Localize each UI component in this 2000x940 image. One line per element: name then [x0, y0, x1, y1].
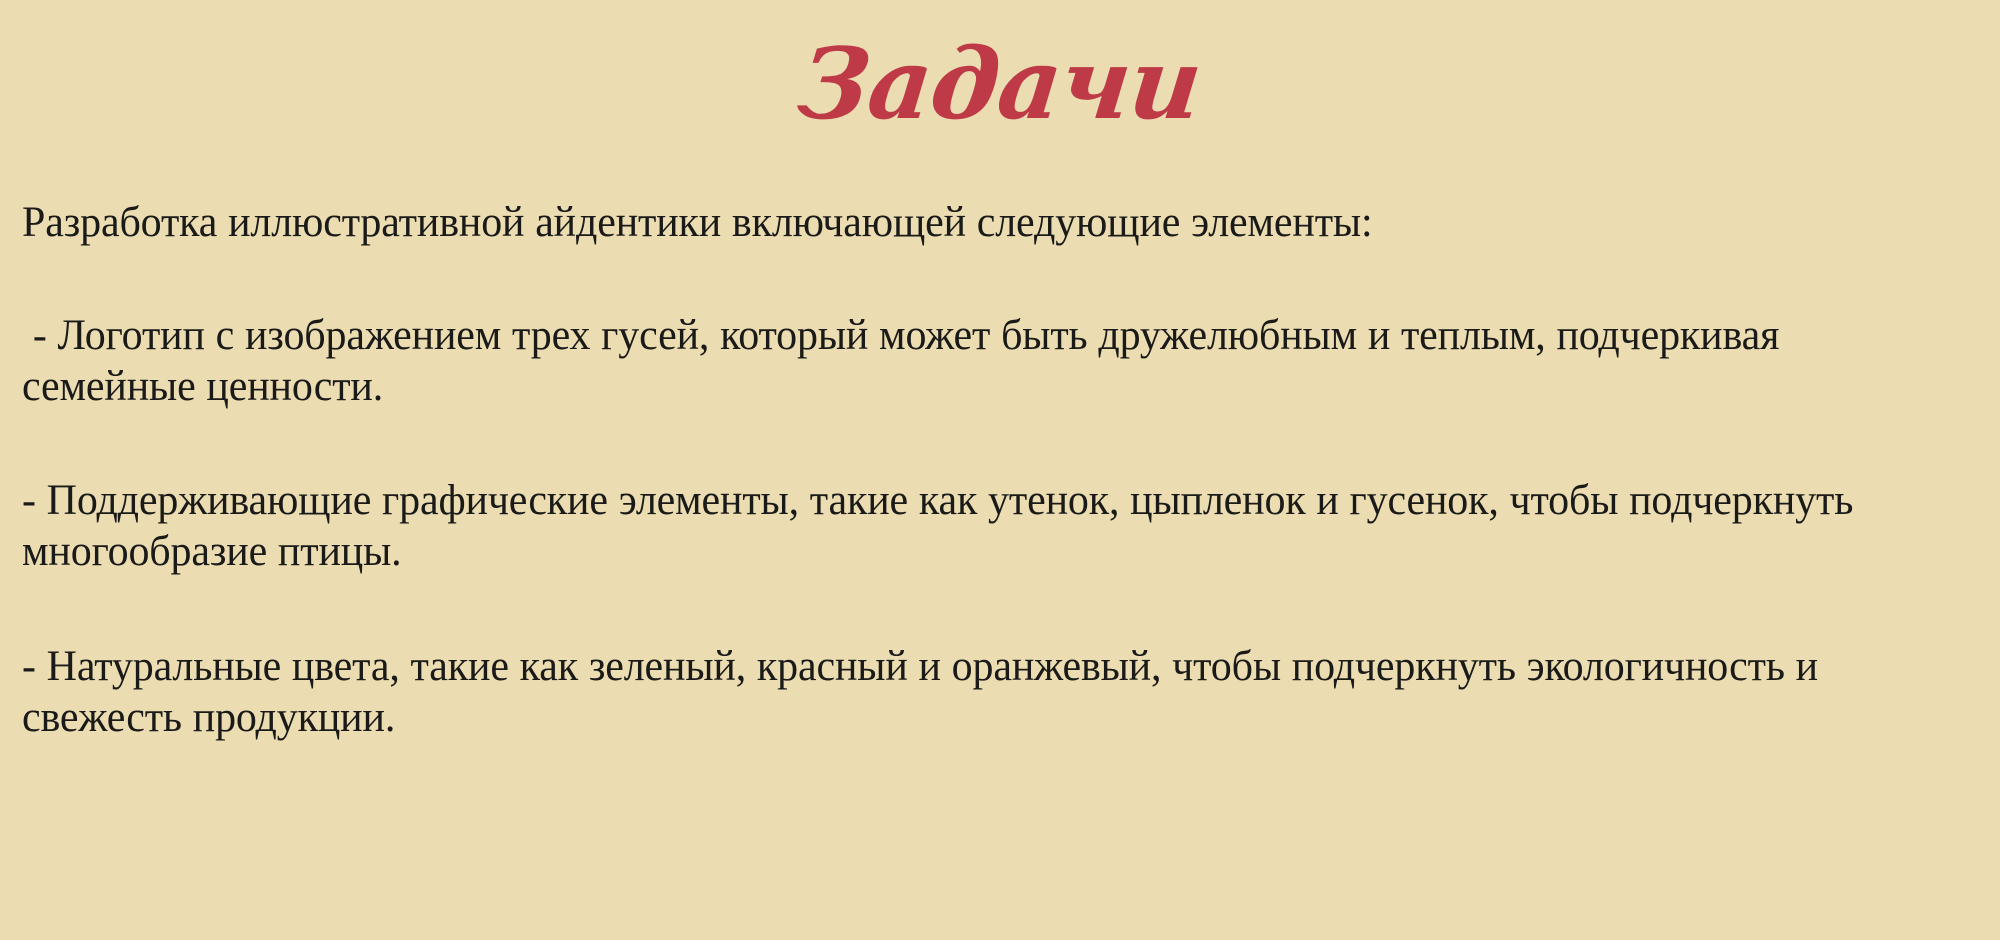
paragraph-intro: Разработка иллюстративной айдентики вклю…	[22, 197, 1915, 248]
page-title: Задачи	[794, 34, 1206, 137]
slide-body-content: Разработка иллюстративной айдентики вклю…	[22, 197, 1984, 743]
paragraph-bullet-colors: - Натуральные цвета, такие как зеленый, …	[22, 641, 1915, 743]
slide-canvas: Задачи Разработка иллюстративной айденти…	[0, 0, 2000, 940]
paragraph-bullet-logo: - Логотип с изображением трех гусей, кот…	[22, 310, 1915, 412]
paragraph-bullet-graphics: - Поддерживающие графические элементы, т…	[22, 475, 1915, 577]
page-title-container: Задачи	[0, 34, 2000, 137]
